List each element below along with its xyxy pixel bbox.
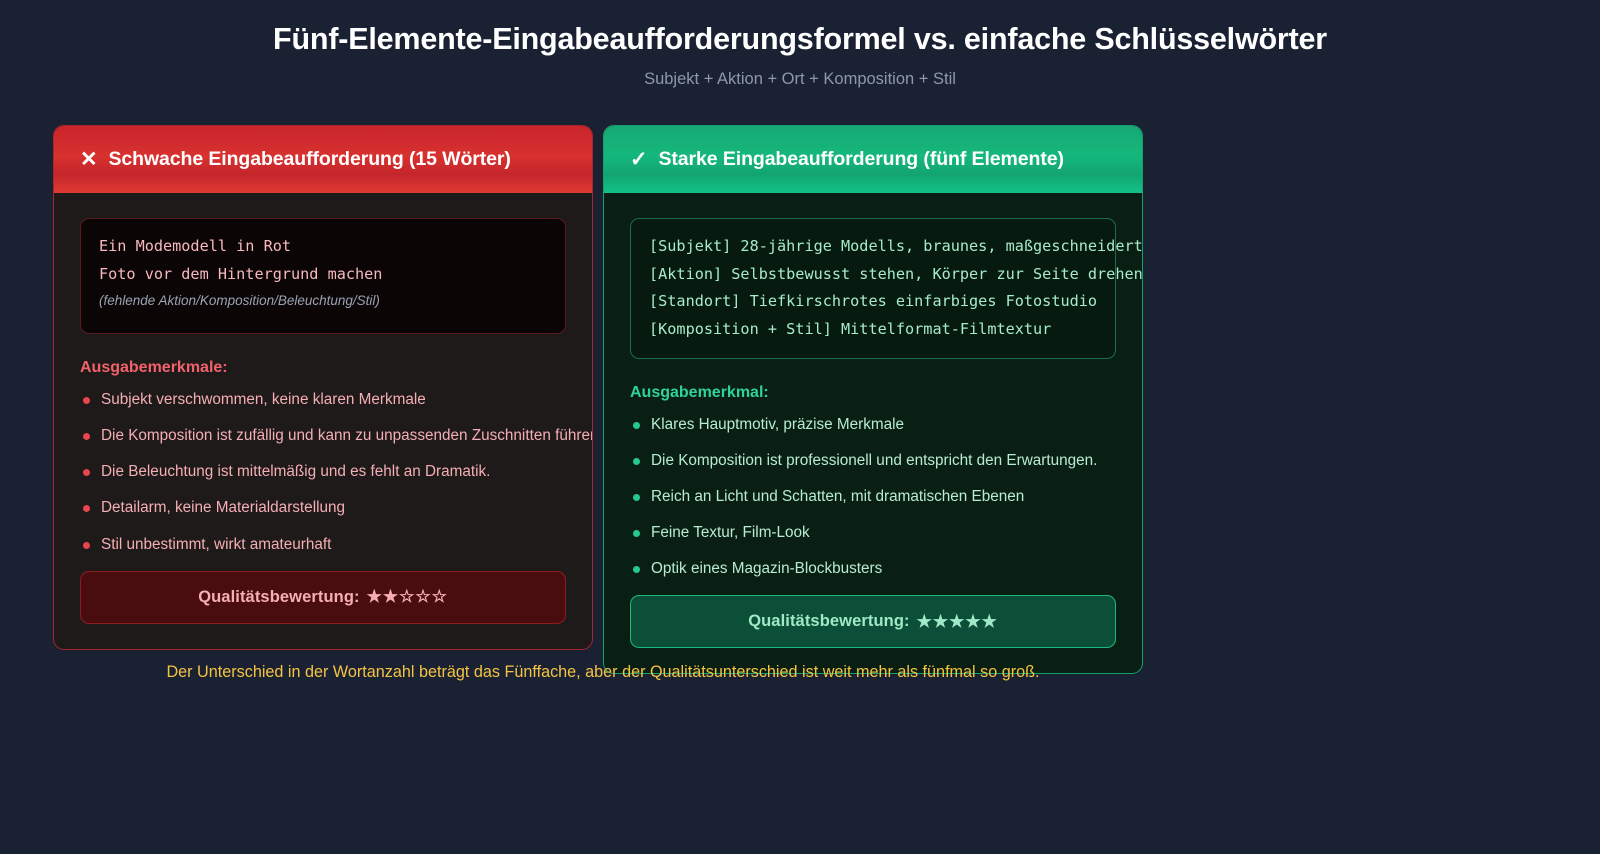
strong-card-body: [Subjekt] 28-jährige Modells, braunes, m…	[604, 193, 1142, 648]
code-line: [Standort] Tiefkirschrotes einfarbiges F…	[649, 288, 1097, 316]
list-item: Subjekt verschwommen, keine klaren Merkm…	[80, 390, 566, 411]
footer-note: Der Unterschied in der Wortanzahl beträg…	[0, 663, 1206, 682]
list-item: Reich an Licht und Schatten, mit dramati…	[630, 487, 1116, 508]
weak-card-header: ✕ Schwache Eingabeaufforderung (15 Wörte…	[54, 126, 592, 193]
weak-quality-rating: Qualitätsbewertung: ★★☆☆☆	[80, 571, 566, 624]
list-item: Die Komposition ist professionell und en…	[630, 451, 1116, 472]
list-item: Die Komposition ist zufällig und kann zu…	[80, 426, 566, 447]
code-line: Foto vor dem Hintergrund machen	[99, 261, 547, 289]
list-item: Optik eines Magazin-Blockbusters	[630, 559, 1116, 580]
check-icon: ✓	[630, 149, 648, 170]
page-header: Fünf-Elemente-Eingabeaufforderungsformel…	[215, 0, 1385, 89]
weak-rating-label: Qualitätsbewertung:	[198, 588, 359, 607]
strong-features-title: Ausgabemerkmal:	[630, 384, 1116, 402]
strong-rating-stars: ★★★★★	[917, 612, 998, 632]
code-line: [Subjekt] 28-jährige Modells, braunes, m…	[649, 233, 1097, 261]
strong-prompt-card: ✓ Starke Eingabeaufforderung (fünf Eleme…	[603, 125, 1143, 674]
comparison-infographic: Fünf-Elemente-Eingabeaufforderungsformel…	[0, 0, 1600, 854]
weak-prompt-card: ✕ Schwache Eingabeaufforderung (15 Wörte…	[53, 125, 593, 650]
code-line: [Komposition + Stil] Mittelformat-Filmte…	[649, 316, 1097, 344]
weak-prompt-missing-note: (fehlende Aktion/Komposition/Beleuchtung…	[99, 291, 547, 311]
weak-card-body: Ein Modemodell in Rot Foto vor dem Hinte…	[54, 193, 592, 624]
strong-card-title: Starke Eingabeaufforderung (fünf Element…	[659, 148, 1064, 171]
weak-features-title: Ausgabemerkmale:	[80, 359, 566, 377]
strong-features-list: Klares Hauptmotiv, präzise Merkmale Die …	[630, 415, 1116, 580]
code-line: Ein Modemodell in Rot	[99, 233, 547, 261]
list-item: Stil unbestimmt, wirkt amateurhaft	[80, 535, 566, 556]
list-item: Klares Hauptmotiv, präzise Merkmale	[630, 415, 1116, 436]
weak-rating-stars: ★★☆☆☆	[367, 587, 448, 607]
strong-prompt-code: [Subjekt] 28-jährige Modells, braunes, m…	[630, 218, 1116, 359]
cross-icon: ✕	[80, 149, 98, 170]
strong-quality-rating: Qualitätsbewertung: ★★★★★	[630, 595, 1116, 648]
cards-row: ✕ Schwache Eingabeaufforderung (15 Wörte…	[53, 125, 1154, 674]
list-item: Detailarm, keine Materialdarstellung	[80, 498, 566, 519]
weak-prompt-code: Ein Modemodell in Rot Foto vor dem Hinte…	[80, 218, 566, 334]
page-title: Fünf-Elemente-Eingabeaufforderungsformel…	[215, 20, 1385, 58]
strong-card-header: ✓ Starke Eingabeaufforderung (fünf Eleme…	[604, 126, 1142, 193]
weak-features-list: Subjekt verschwommen, keine klaren Merkm…	[80, 390, 566, 555]
list-item: Feine Textur, Film-Look	[630, 523, 1116, 544]
list-item: Die Beleuchtung ist mittelmäßig und es f…	[80, 462, 566, 483]
code-line: [Aktion] Selbstbewusst stehen, Körper zu…	[649, 261, 1097, 289]
weak-card-title: Schwache Eingabeaufforderung (15 Wörter)	[109, 148, 511, 171]
strong-rating-label: Qualitätsbewertung:	[748, 612, 909, 631]
page-subtitle: Subjekt + Aktion + Ort + Komposition + S…	[215, 70, 1385, 89]
